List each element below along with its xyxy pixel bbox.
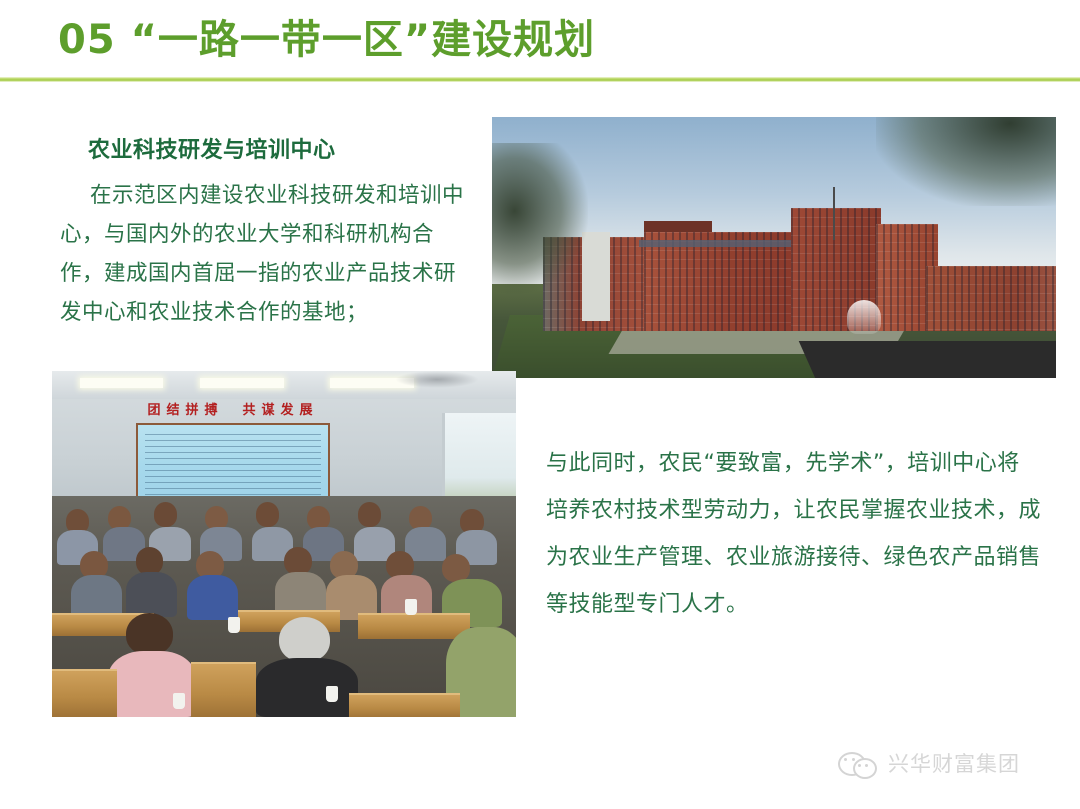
right-text-column: 与此同时，农民“要致富，先学术”，培训中心将培养农村技术型劳动力，让农民掌握农业… <box>546 440 1041 628</box>
wechat-dot <box>865 764 868 767</box>
paper-cup <box>173 693 185 709</box>
section-heading: 农业科技研发与培训中心 <box>88 136 472 166</box>
fountain <box>847 300 881 334</box>
building-right-wing <box>926 266 1056 331</box>
window-grid <box>926 266 1056 331</box>
wechat-dot <box>858 764 861 767</box>
wechat-bubble-small <box>853 758 877 779</box>
road-region <box>799 341 1056 378</box>
left-text-column: 农业科技研发与培训中心 在示范区内建设农业科技研发和培训中心，与国内外的农业大学… <box>60 136 472 332</box>
classroom-banner-text: 团结拼搏 共谋发展 <box>136 399 331 423</box>
wechat-icon <box>838 748 880 778</box>
header-divider-rule <box>0 77 1080 82</box>
ceiling-fan <box>395 371 479 388</box>
attendee-torso <box>126 572 177 617</box>
classroom-desk <box>358 613 469 639</box>
paper-cup <box>228 617 240 633</box>
tree-foliage-left <box>492 143 588 294</box>
attendee-head <box>358 502 381 526</box>
wechat-dot <box>852 758 855 761</box>
attendee-head <box>442 554 470 582</box>
building-canopy <box>639 240 797 248</box>
classroom-desk-front <box>52 669 117 717</box>
classroom-notice-board <box>136 423 331 506</box>
ceiling-light <box>80 378 164 388</box>
ceiling-light <box>200 378 284 388</box>
wechat-dot <box>844 758 847 761</box>
attendee-head <box>136 547 164 575</box>
attendee-torso <box>187 575 238 620</box>
paper-cup <box>326 686 338 702</box>
flag-mast <box>833 187 835 239</box>
attendee-head <box>284 547 312 575</box>
attendee-head <box>256 502 279 526</box>
classroom-desk-front <box>191 662 256 717</box>
paper-cup <box>405 599 417 615</box>
classroom-training-image: 团结拼搏 共谋发展 <box>52 371 516 717</box>
attendee-head-front <box>279 617 330 662</box>
attendee-torso-front <box>256 658 358 717</box>
tree-foliage-top-right <box>876 117 1056 206</box>
classroom-desk-front <box>349 693 460 717</box>
slide-header: 05 “一路一带一区”建设规划 <box>0 0 1080 82</box>
attendee-head-front <box>126 613 172 655</box>
building-rendering-image <box>492 117 1056 378</box>
board-text-lines <box>145 434 321 497</box>
right-body-paragraph: 与此同时，农民“要致富，先学术”，培训中心将培养农村技术型劳动力，让农民掌握农业… <box>546 440 1041 628</box>
attendee-head <box>154 502 177 526</box>
left-body-paragraph: 在示范区内建设农业科技研发和培训中心，与国内外的农业大学和科研机构合作，建成国内… <box>60 176 472 332</box>
page-title: 05 “一路一带一区”建设规划 <box>58 14 595 66</box>
watermark-label: 兴华财富集团 <box>888 748 1020 778</box>
watermark: 兴华财富集团 <box>838 748 1020 778</box>
